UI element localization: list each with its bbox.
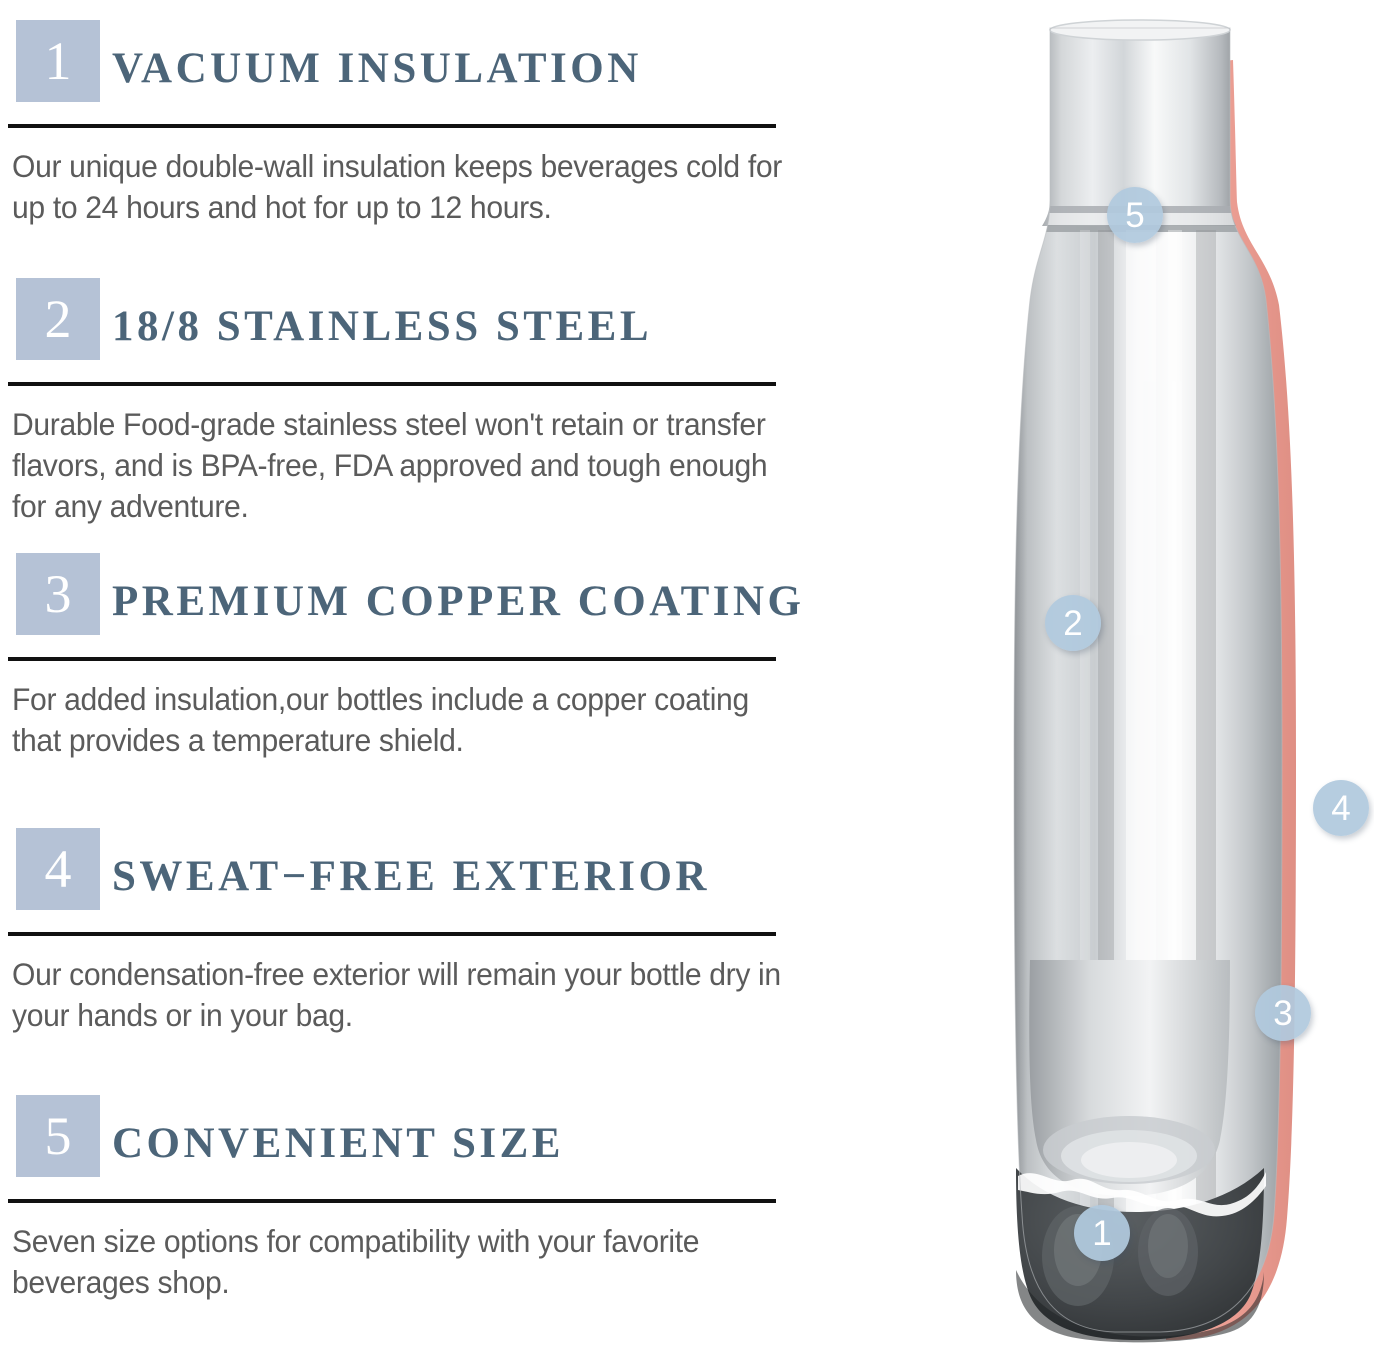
feature-divider-5: [8, 1199, 776, 1203]
feature-title-4: SWEAT−FREE EXTERIOR: [112, 852, 710, 901]
feature-title-3: PREMIUM COPPER COATING: [112, 577, 805, 626]
feature-list: 1 VACUUM INSULATION Our unique double-wa…: [0, 0, 860, 1370]
feature-body-1: Our unique double-wall insulation keeps …: [12, 146, 787, 228]
diagram-callout-1[interactable]: 1: [1074, 1205, 1130, 1261]
feature-number-badge-2: 2: [16, 278, 100, 360]
feature-title-5: CONVENIENT SIZE: [112, 1119, 564, 1168]
diagram-callout-3[interactable]: 3: [1255, 985, 1311, 1041]
feature-number-badge-4: 4: [16, 828, 100, 910]
feature-title-2: 18/8 STAINLESS STEEL: [112, 302, 652, 351]
diagram-callout-5[interactable]: 5: [1107, 187, 1163, 243]
feature-title-1: VACUUM INSULATION: [112, 44, 642, 93]
diagram-callout-2[interactable]: 2: [1045, 595, 1101, 651]
feature-number-badge-1: 1: [16, 20, 100, 102]
feature-divider-2: [8, 382, 776, 386]
feature-number-badge-5: 5: [16, 1095, 100, 1177]
feature-divider-3: [8, 657, 776, 661]
feature-divider-4: [8, 932, 776, 936]
feature-body-2: Durable Food-grade stainless steel won't…: [12, 404, 787, 527]
diagram-callout-4[interactable]: 4: [1313, 780, 1369, 836]
feature-body-4: Our condensation-free exterior will rema…: [12, 954, 787, 1036]
feature-body-3: For added insulation,our bottles include…: [12, 679, 787, 761]
feature-number-badge-3: 3: [16, 553, 100, 635]
feature-body-5: Seven size options for compatibility wit…: [12, 1221, 787, 1303]
feature-divider-1: [8, 124, 776, 128]
infographic-page: 1 VACUUM INSULATION Our unique double-wa…: [0, 0, 1374, 1370]
